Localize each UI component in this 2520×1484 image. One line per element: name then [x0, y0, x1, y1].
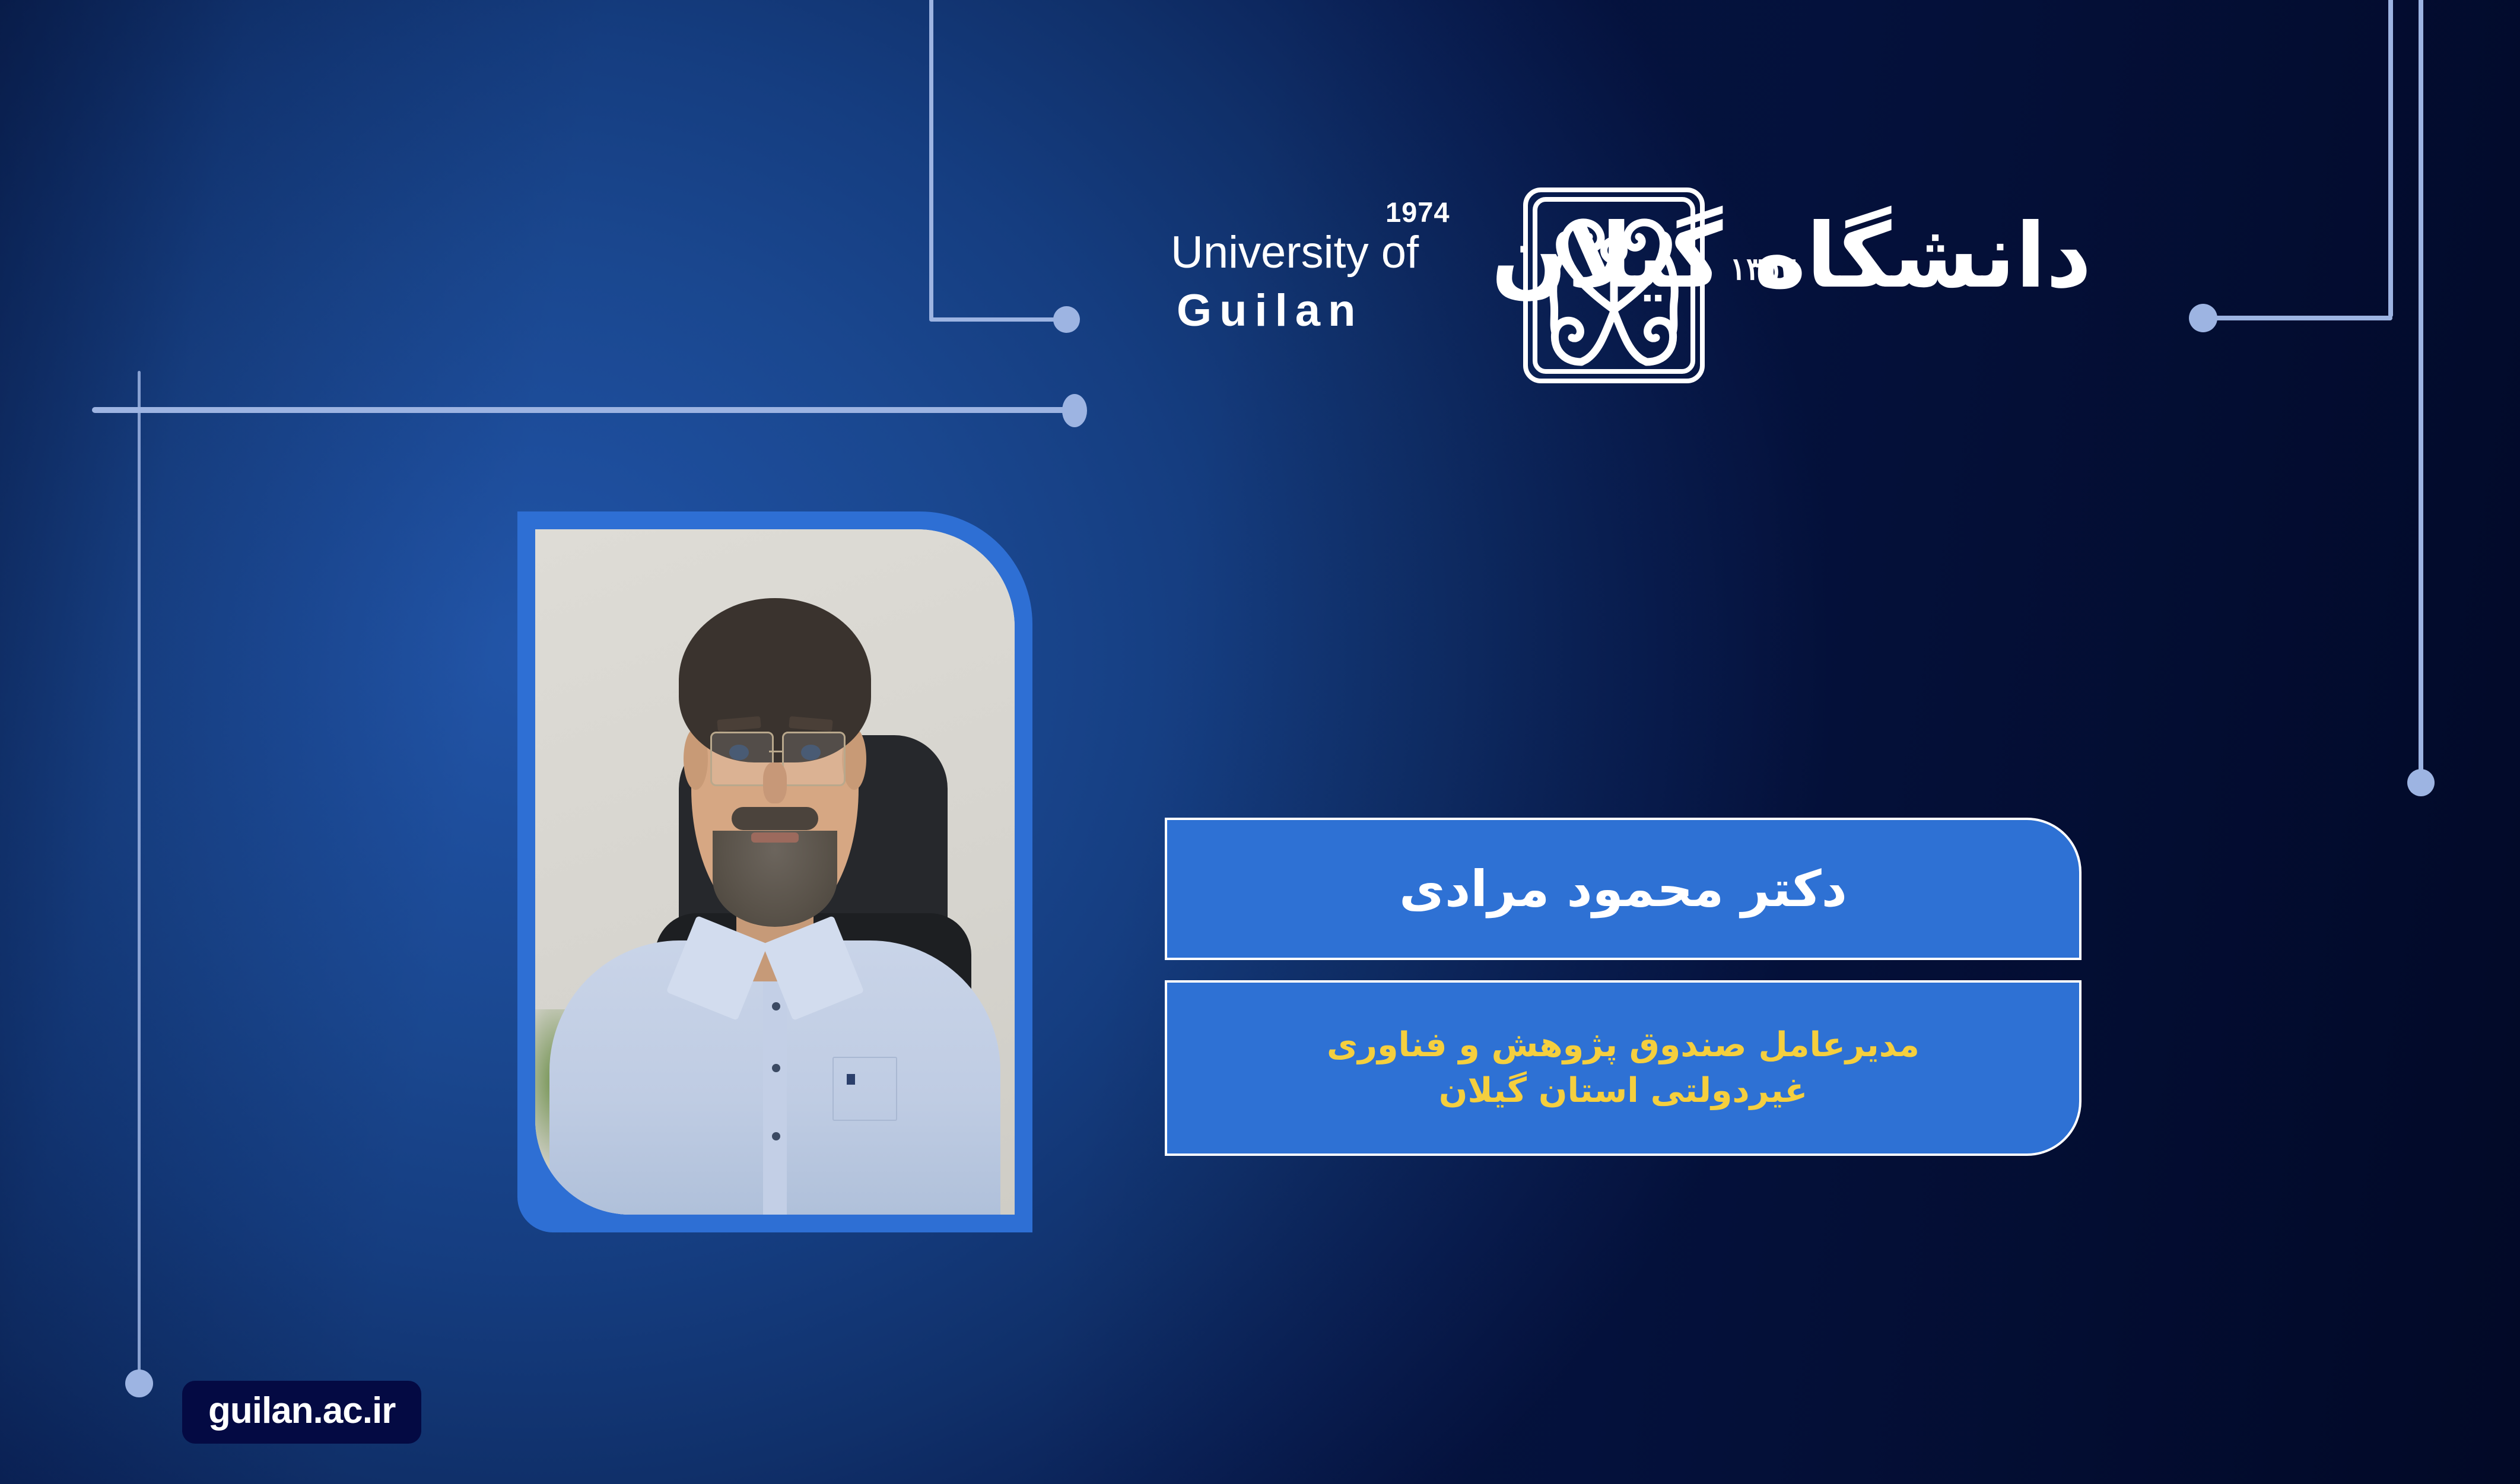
decor-vline-top-right: [2388, 0, 2393, 317]
decor-dot-bottom-left: [125, 1369, 153, 1397]
website-url-text: guilan.ac.ir: [208, 1390, 395, 1431]
decor-dot-right: [2407, 769, 2435, 796]
logo-name-en-line2: Guilan: [1177, 285, 1363, 336]
banner-canvas: 1974 University of Guilan: [0, 0, 2520, 1484]
decor-dot-hline-left-end: [1062, 394, 1087, 427]
decor-dot-top-right: [2189, 304, 2217, 332]
person-name: دکتر محمود مرادی: [1399, 860, 1847, 918]
decor-vline-top-center: [929, 0, 933, 320]
person-name-badge: دکتر محمود مرادی: [1165, 818, 2082, 960]
website-url-chip[interactable]: guilan.ac.ir: [182, 1381, 421, 1444]
university-logo: 1974 University of Guilan: [1160, 196, 2086, 374]
decor-hline-top-right: [2208, 316, 2392, 320]
decor-vline-right: [2419, 0, 2423, 777]
logo-name-fa: دانشگاه گیلان: [1491, 190, 2092, 323]
decor-hline-left: [92, 407, 1077, 413]
portrait-frame: [517, 511, 1032, 1232]
decor-dot-top-center: [1053, 306, 1080, 333]
portrait-photo: [535, 529, 1015, 1215]
decor-vline-left: [138, 371, 141, 1371]
person-title-badge: مدیرعامل صندوق پژوهش و فناوری غیردولتی ا…: [1165, 980, 2082, 1156]
logo-name-en-line1: University of: [1171, 227, 1419, 278]
logo-year-gregorian: 1974: [1385, 196, 1450, 228]
person-title-line2: غیردولتی استان گیلان: [1439, 1068, 1808, 1114]
person-title-line1: مدیرعامل صندوق پژوهش و فناوری: [1327, 1022, 1920, 1068]
